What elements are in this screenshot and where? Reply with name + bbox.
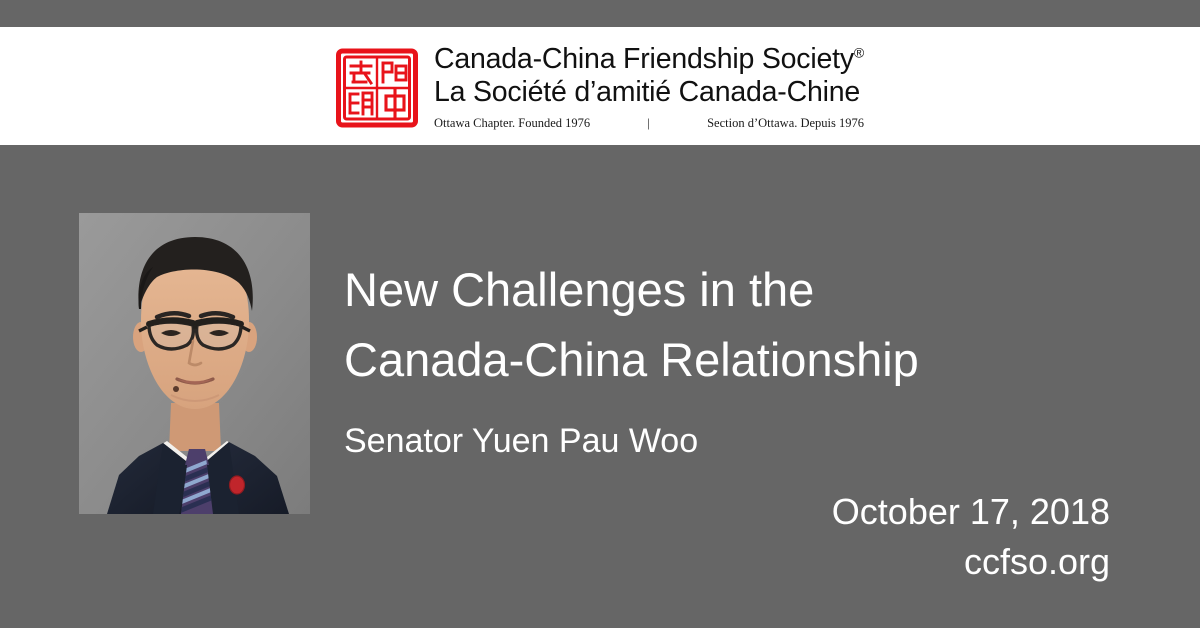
organization-logo-lockup: Canada-China Friendship Society® La Soci… [336,41,864,131]
registered-trademark-symbol: ® [854,45,864,61]
lapel-pin [230,476,245,494]
speaker-portrait-illustration [79,213,310,514]
organization-wordmark: Canada-China Friendship Society® La Soci… [434,41,864,131]
tagline-french: Section d’Ottawa. Depuis 1976 [707,116,864,131]
speaker-portrait [79,213,310,514]
org-name-english-text: Canada-China Friendship Society [434,43,854,75]
page-title: New Challenges in the Canada-China Relat… [344,255,1104,395]
event-title-slide: Canada-China Friendship Society® La Soci… [0,0,1200,628]
speaker-name: Senator Yuen Pau Woo [344,417,1104,465]
tagline-separator: | [647,116,650,131]
chinese-seal-icon [336,47,418,129]
title-line-1: New Challenges in the [344,255,1104,325]
event-date: October 17, 2018 [490,487,1110,537]
org-tagline: Ottawa Chapter. Founded 1976 | Section d… [434,116,864,131]
org-name-french: La Société d’amitié Canada-Chine [434,76,864,109]
website-url[interactable]: ccfso.org [490,537,1110,587]
headline-block: New Challenges in the Canada-China Relat… [344,255,1104,465]
event-meta: October 17, 2018 ccfso.org [490,487,1110,587]
tagline-english: Ottawa Chapter. Founded 1976 [434,116,590,131]
title-line-2: Canada-China Relationship [344,325,1104,395]
org-name-english: Canada-China Friendship Society® [434,43,864,76]
header-banner: Canada-China Friendship Society® La Soci… [0,27,1200,145]
